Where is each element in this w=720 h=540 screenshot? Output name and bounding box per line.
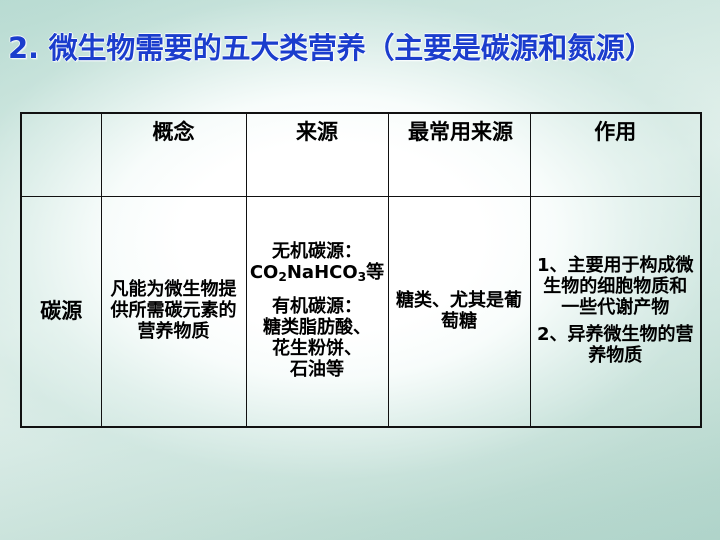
slide-canvas: 2. 微生物需要的五大类营养（主要是碳源和氮源） 概念 来源 最常用来源 作用 … [0, 0, 720, 540]
cell-most-common-source: 糖类、尤其是葡萄糖 [388, 197, 530, 428]
cell-concept: 凡能为微生物提供所需碳元素的营养物质 [101, 197, 246, 428]
header-source: 来源 [246, 113, 388, 197]
organic-source-line-3: 石油等 [249, 360, 386, 381]
row-label-carbon-source: 碳源 [21, 197, 101, 428]
header-concept: 概念 [101, 113, 246, 197]
function-item-2: 2、异养微生物的营养物质 [535, 325, 697, 367]
formula-co-subscript: 2 [278, 270, 287, 284]
header-most-common-source: 最常用来源 [388, 113, 530, 197]
header-corner-blank [21, 113, 101, 197]
inorganic-source-block: 无机碳源： CO2NaHCO3等 [249, 242, 386, 284]
nutrient-table: 概念 来源 最常用来源 作用 碳源 凡能为微生物提供所需碳元素的营养物质 无机碳… [20, 112, 702, 428]
cell-source: 无机碳源： CO2NaHCO3等 有机碳源： 糖类脂肪酸、 花生粉饼、 石油等 [246, 197, 388, 428]
cell-function: 1、主要用于构成微生物的细胞物质和一些代谢产物 2、异养微生物的营养物质 [530, 197, 701, 428]
formula-nahco-subscript: 3 [358, 270, 367, 284]
inorganic-source-heading: 无机碳源： [249, 242, 386, 263]
table-row: 碳源 凡能为微生物提供所需碳元素的营养物质 无机碳源： CO2NaHCO3等 有… [21, 197, 701, 428]
organic-source-line-1: 糖类脂肪酸、 [249, 318, 386, 339]
function-item-1: 1、主要用于构成微生物的细胞物质和一些代谢产物 [535, 256, 697, 319]
organic-source-line-2: 花生粉饼、 [249, 339, 386, 360]
organic-source-heading: 有机碳源： [249, 297, 386, 318]
header-function: 作用 [530, 113, 701, 197]
formula-suffix-etc: 等 [366, 262, 384, 283]
page-title: 2. 微生物需要的五大类营养（主要是碳源和氮源） [8, 34, 718, 63]
table-header-row: 概念 来源 最常用来源 作用 [21, 113, 701, 197]
formula-co-prefix: CO [250, 262, 279, 283]
organic-source-block: 有机碳源： 糖类脂肪酸、 花生粉饼、 石油等 [249, 297, 386, 381]
inorganic-source-formula: CO2NaHCO3等 [249, 263, 386, 284]
formula-nahco-mid: NaHCO [287, 262, 358, 283]
